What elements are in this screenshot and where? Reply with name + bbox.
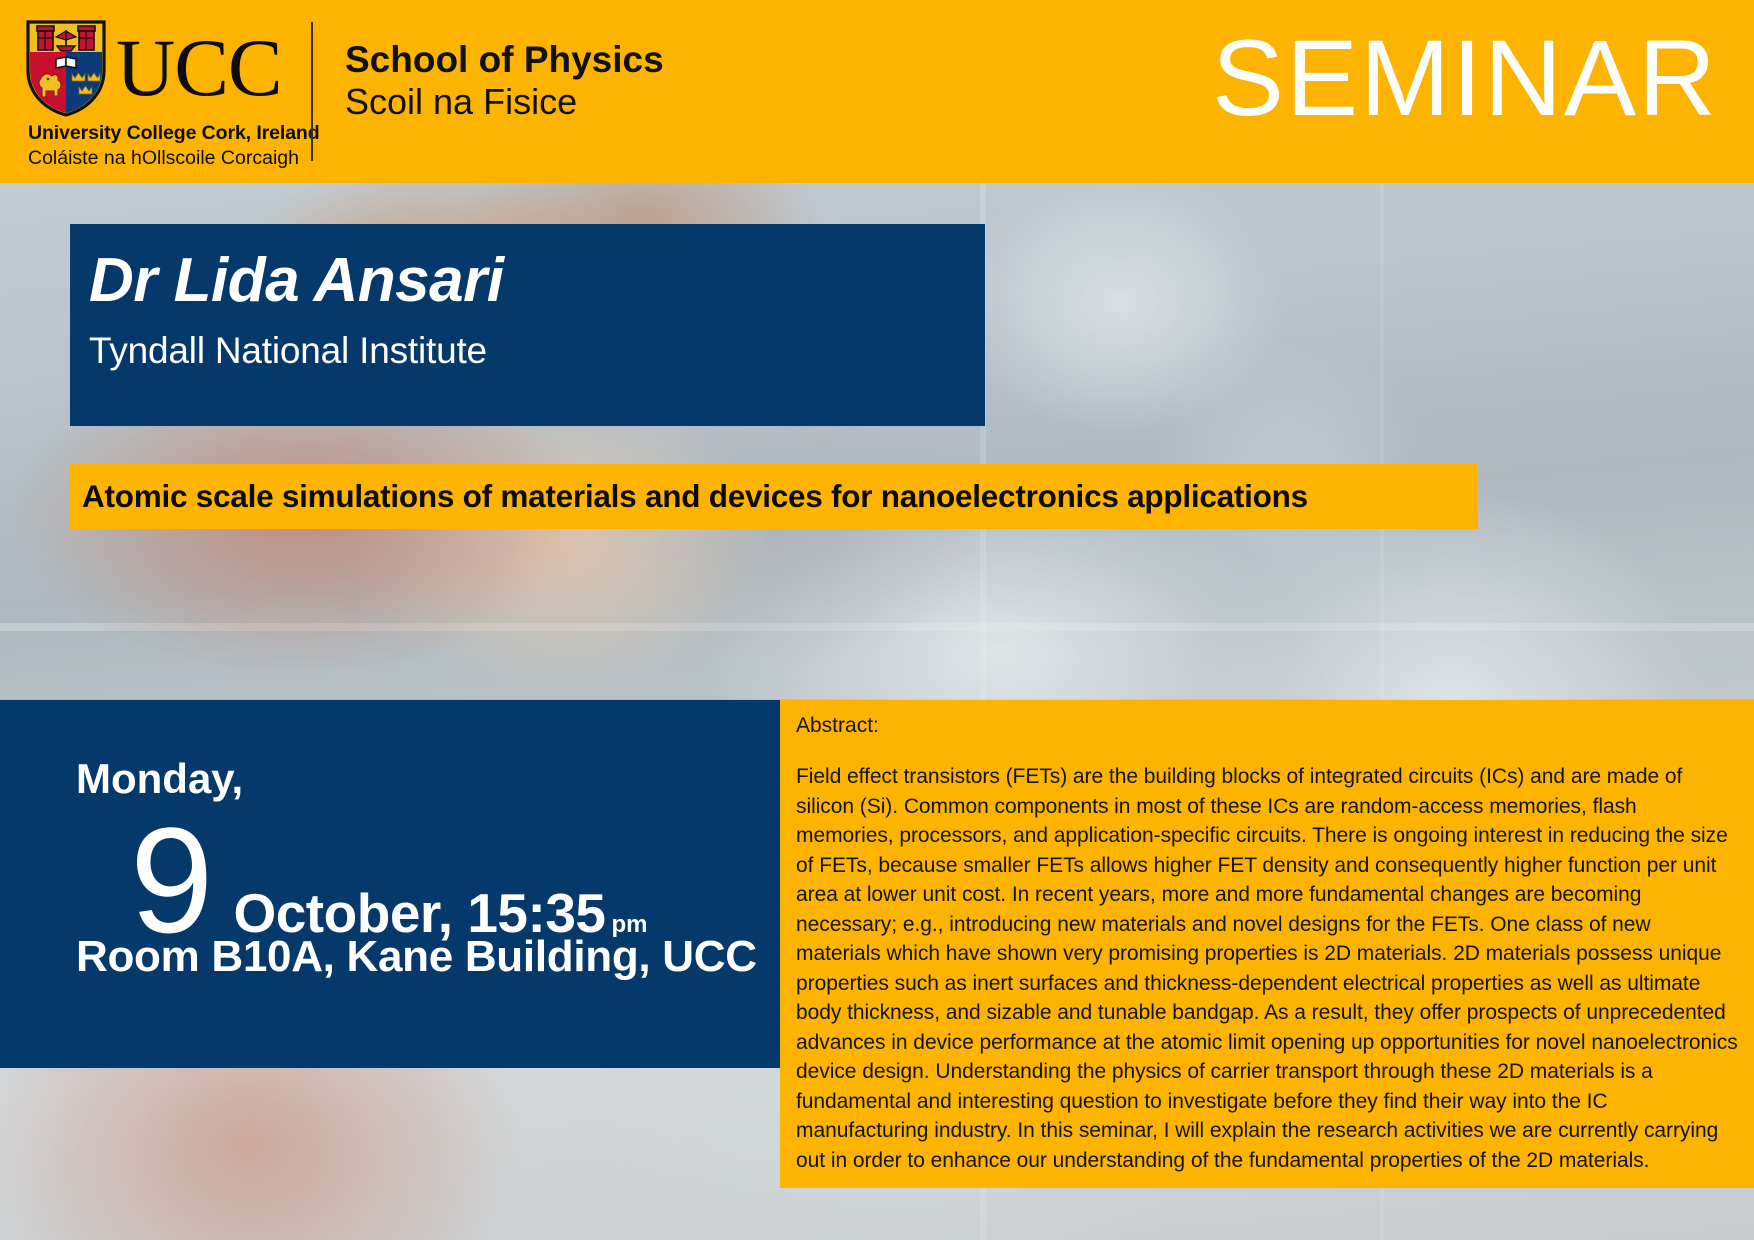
university-name-irish: Coláiste na hOllscoile Corcaigh xyxy=(28,147,308,170)
university-name-english: University College Cork, Ireland xyxy=(28,122,308,145)
school-name-irish: Scoil na Fisice xyxy=(345,82,664,122)
school-name-block: School of Physics Scoil na Fisice xyxy=(345,40,664,122)
photo-highlight-band xyxy=(0,623,1754,631)
ucc-wordmark: UCC xyxy=(116,30,282,105)
ucc-brand-lockup: UCC xyxy=(24,18,282,118)
talk-title: Atomic scale simulations of materials an… xyxy=(82,478,1308,515)
event-venue: Room B10A, Kane Building, UCC xyxy=(76,932,757,982)
abstract-panel: Abstract: Field effect transistors (FETs… xyxy=(780,700,1754,1188)
speaker-name: Dr Lida Ansari xyxy=(89,250,985,312)
ucc-letters: UCC xyxy=(116,22,282,113)
speaker-block: Dr Lida Ansari Tyndall National Institut… xyxy=(70,224,985,426)
seminar-poster: UCC University College Cork, Ireland Col… xyxy=(0,0,1754,1240)
header-bar: UCC University College Cork, Ireland Col… xyxy=(0,0,1754,183)
university-name-block: University College Cork, Ireland Coláist… xyxy=(28,122,308,170)
school-name-english: School of Physics xyxy=(345,40,664,80)
abstract-label: Abstract: xyxy=(796,711,1738,741)
ucc-crest-icon xyxy=(24,18,108,118)
speaker-affiliation: Tyndall National Institute xyxy=(89,330,985,372)
talk-title-band: Atomic scale simulations of materials an… xyxy=(70,464,1478,529)
event-details-panel: Monday, 9 October, 15:35 pm Room B10A, K… xyxy=(0,700,780,1068)
abstract-body: Field effect transistors (FETs) are the … xyxy=(796,762,1738,1175)
poster-kind-heading: SEMINAR xyxy=(1212,14,1718,141)
header-divider xyxy=(311,22,313,161)
